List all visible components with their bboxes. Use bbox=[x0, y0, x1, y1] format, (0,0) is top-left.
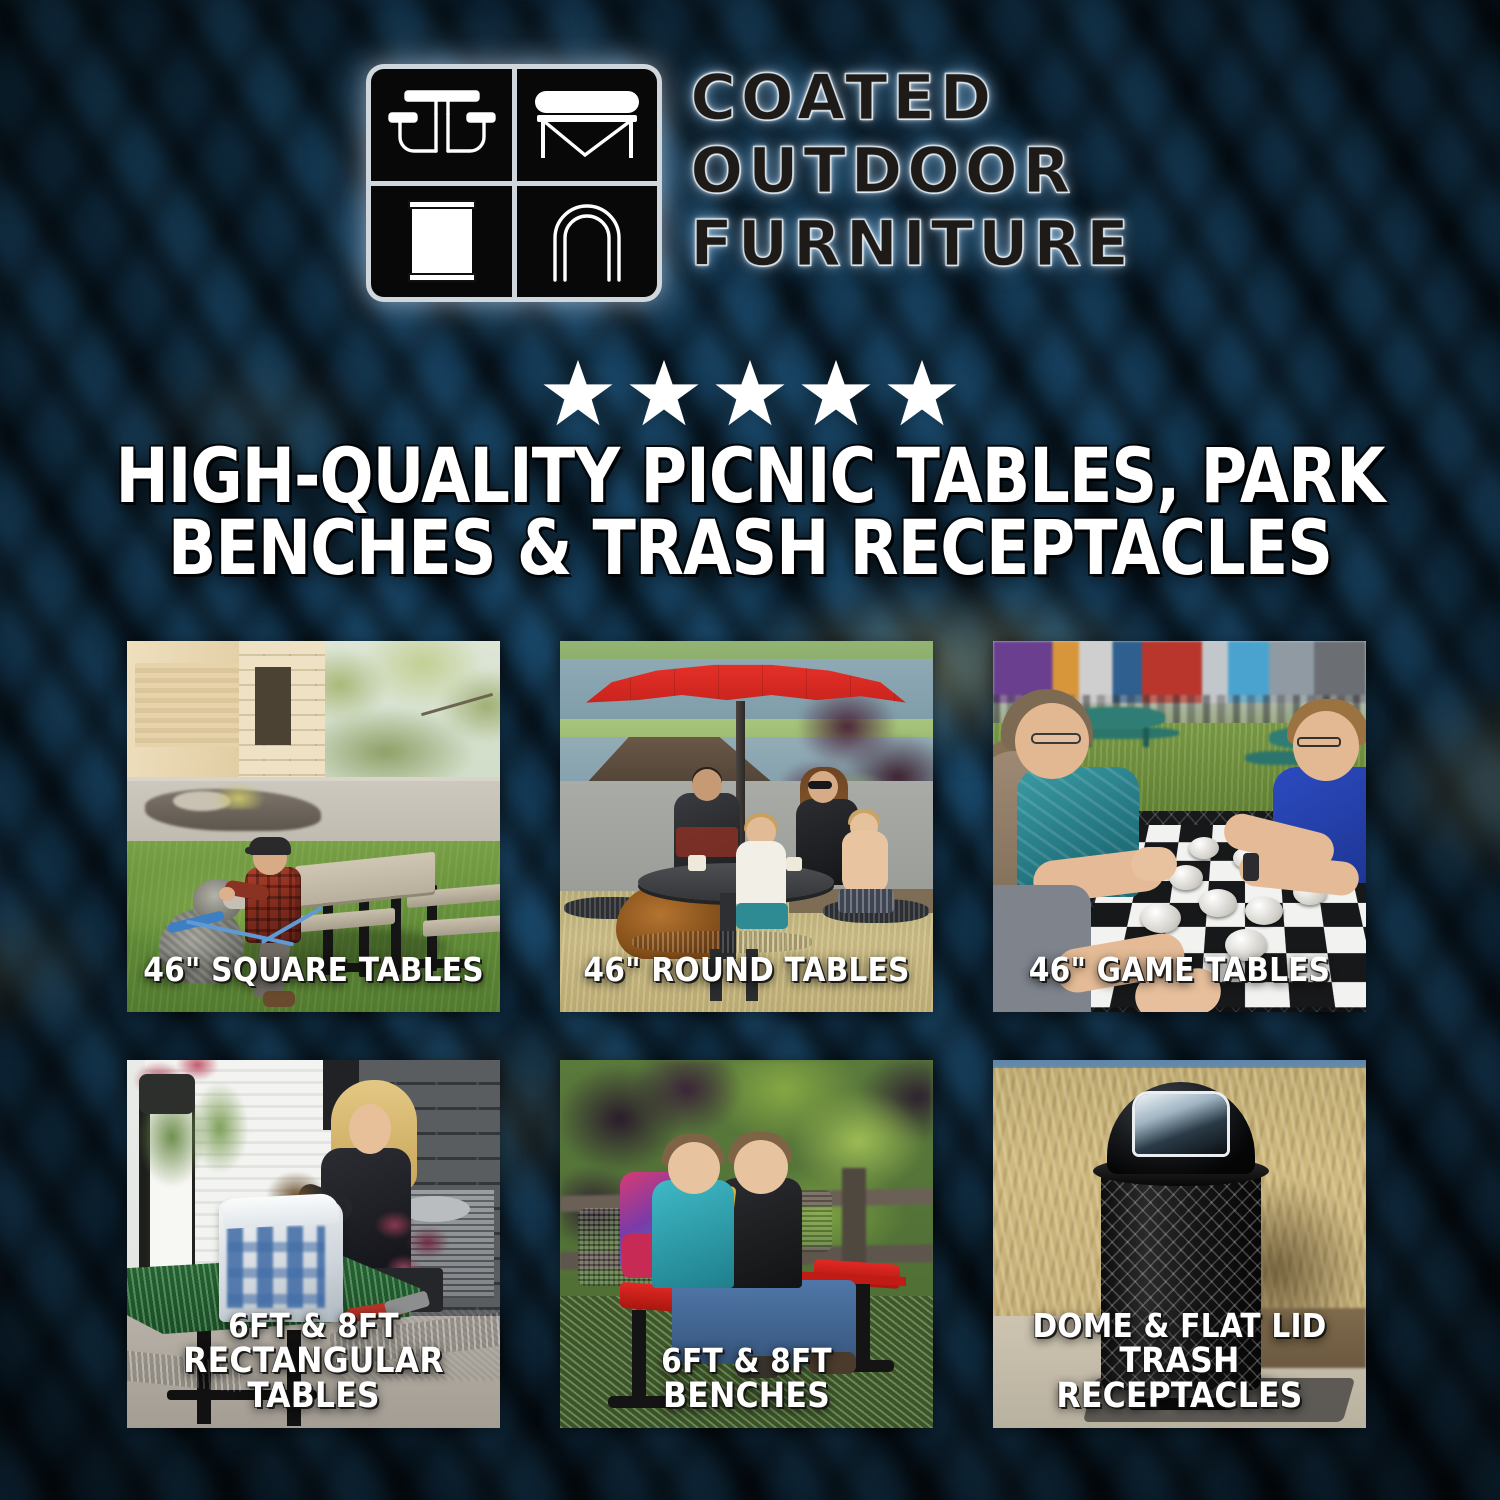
tile-caption: 46" ROUND TABLES bbox=[560, 953, 933, 986]
star-rating bbox=[0, 358, 1500, 428]
brand-line-2: OUTDOOR bbox=[690, 141, 1133, 202]
headline-line-2: BENCHES & TRASH RECEPTACLES bbox=[53, 512, 1448, 584]
bike-rack-icon bbox=[517, 186, 658, 298]
star-icon bbox=[542, 358, 614, 428]
product-tile-benches[interactable]: 6FT & 8FT BENCHES bbox=[560, 1060, 933, 1428]
tile-caption: 46" GAME TABLES bbox=[993, 953, 1366, 986]
tile-caption: 6FT & 8FT BENCHES bbox=[560, 1344, 933, 1414]
brand-line-3: FURNITURE bbox=[690, 214, 1133, 275]
star-icon bbox=[800, 358, 872, 428]
brand-line-1: COATED bbox=[690, 68, 1133, 129]
trash-receptacle-icon bbox=[371, 186, 512, 298]
tile-caption: DOME & FLAT LID TRASH RECEPTACLES bbox=[993, 1309, 1366, 1414]
headline-line-1: HIGH-QUALITY PICNIC TABLES, PARK bbox=[53, 440, 1448, 512]
tile-caption: 6FT & 8FT RECTANGULAR TABLES bbox=[127, 1309, 500, 1414]
tile-caption-line-1: 6FT & 8FT bbox=[560, 1344, 933, 1377]
product-tile-game-tables[interactable]: 46" GAME TABLES bbox=[993, 641, 1366, 1012]
tile-caption-line-2: BENCHES bbox=[560, 1379, 933, 1414]
product-tile-rectangular-tables[interactable]: 6FT & 8FT RECTANGULAR TABLES bbox=[127, 1060, 500, 1428]
tile-caption-line-1: 6FT & 8FT bbox=[127, 1309, 500, 1342]
product-poster: COATED OUTDOOR FURNITURE HIGH-QUALITY PI… bbox=[0, 0, 1500, 1500]
product-grid: 46" SQUARE TABLES bbox=[127, 641, 1373, 1428]
product-tile-square-tables[interactable]: 46" SQUARE TABLES bbox=[127, 641, 500, 1012]
star-icon bbox=[886, 358, 958, 428]
star-icon bbox=[714, 358, 786, 428]
brand-wordmark: COATED OUTDOOR FURNITURE bbox=[690, 64, 1133, 274]
brand-logo-mark bbox=[366, 64, 662, 302]
product-tile-round-tables[interactable]: 46" ROUND TABLES bbox=[560, 641, 933, 1012]
product-tile-trash-receptacles[interactable]: DOME & FLAT LID TRASH RECEPTACLES bbox=[993, 1060, 1366, 1428]
brand-header: COATED OUTDOOR FURNITURE bbox=[0, 64, 1500, 302]
tile-caption-line-2: RECTANGULAR TABLES bbox=[127, 1344, 500, 1414]
tile-caption-line-2: TRASH RECEPTACLES bbox=[993, 1344, 1366, 1414]
star-icon bbox=[628, 358, 700, 428]
tile-caption: 46" SQUARE TABLES bbox=[127, 953, 500, 986]
bench-icon bbox=[517, 69, 658, 181]
picnic-table-icon bbox=[371, 69, 512, 181]
page-title: HIGH-QUALITY PICNIC TABLES, PARK BENCHES… bbox=[53, 440, 1448, 584]
tile-caption-line-1: DOME & FLAT LID bbox=[993, 1309, 1366, 1342]
